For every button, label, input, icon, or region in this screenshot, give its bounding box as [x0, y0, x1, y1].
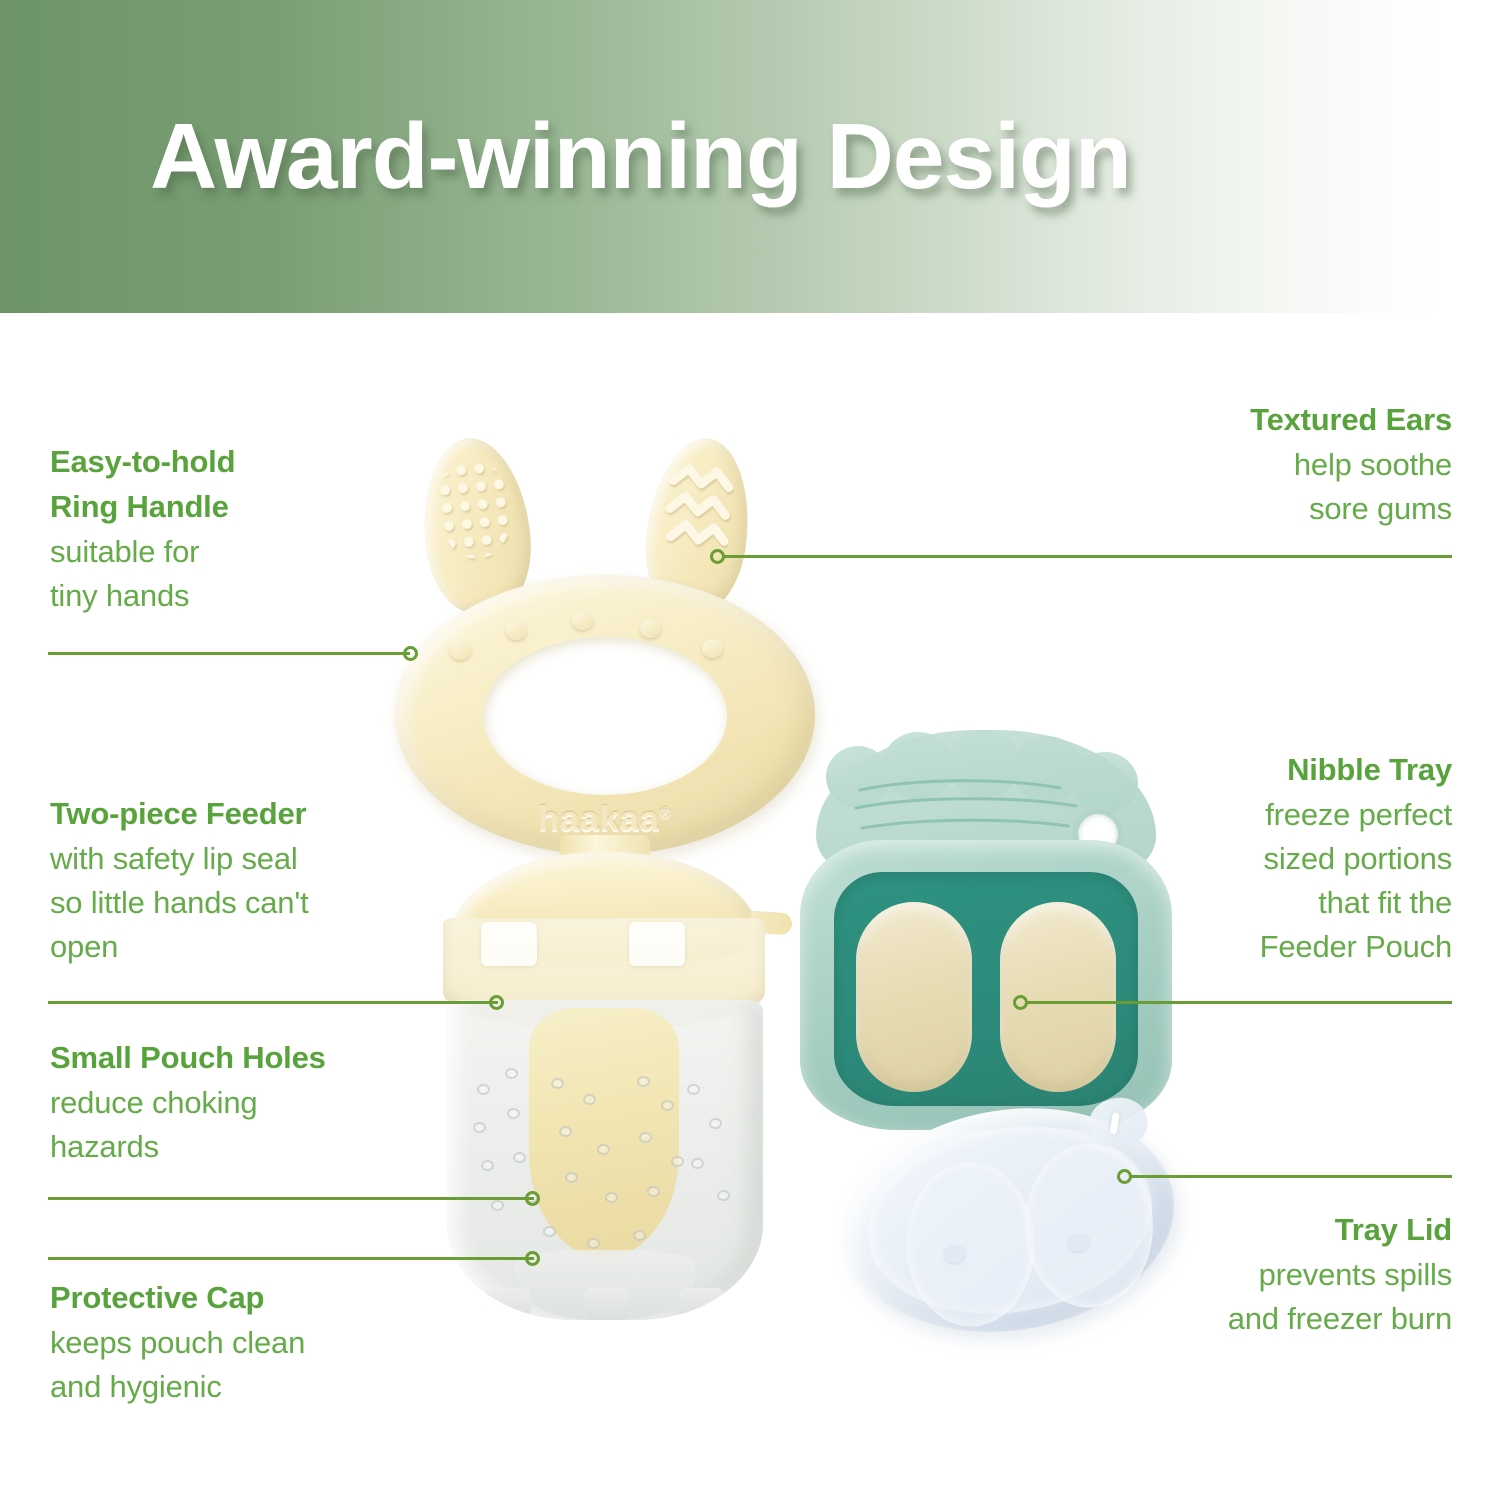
callout-two-piece-feeder: Two-piece Feeder with safety lip seal so…: [50, 792, 430, 969]
connector-dot-nibble-tray: [1013, 995, 1028, 1010]
callout-description: help soothe sore gums: [1092, 443, 1452, 531]
callout-textured-ears: Textured Ears help soothe sore gums: [1092, 398, 1452, 531]
connector-line-two-piece-feeder: [48, 1001, 498, 1004]
callout-description: with safety lip seal so little hands can…: [50, 837, 430, 969]
callout-title: Nibble Tray: [1072, 748, 1452, 793]
callout-title: Easy-to-hold Ring Handle: [50, 440, 410, 530]
infographic-canvas: Award-winning Design: [0, 0, 1500, 1500]
page-title: Award-winning Design: [150, 103, 1131, 210]
callout-description: freeze perfect sized portions that fit t…: [1072, 793, 1452, 969]
connector-line-small-pouch-holes: [48, 1197, 534, 1200]
connector-dot-textured-ears: [710, 549, 725, 564]
pouch-foot: [679, 1288, 725, 1320]
tray-brand-emboss: [846, 774, 1106, 840]
callout-tray-lid: Tray Lid prevents spills and freezer bur…: [1072, 1208, 1452, 1341]
ring-handle: haakaa®: [395, 575, 815, 855]
connector-line-textured-ears: [722, 555, 1452, 558]
ring-bump-texture-icon: [450, 611, 760, 655]
ear-zigzag-texture-icon: [659, 460, 737, 554]
connector-line-nibble-tray: [1026, 1001, 1452, 1004]
ear-dot-texture-icon: [433, 457, 515, 562]
callout-title: Two-piece Feeder: [50, 792, 430, 837]
tray-portion-well: [856, 902, 972, 1092]
safety-latch-right: [629, 922, 685, 966]
callout-description: suitable for tiny hands: [50, 530, 410, 618]
header-banner: Award-winning Design: [0, 0, 1500, 313]
callout-nibble-tray: Nibble Tray freeze perfect sized portion…: [1072, 748, 1452, 969]
tray-lid-well-imprint: [905, 1161, 1036, 1327]
callout-title: Tray Lid: [1072, 1208, 1452, 1253]
pouch-foot: [583, 1288, 629, 1320]
connector-dot-protective-cap: [525, 1251, 540, 1266]
connector-dot-small-pouch-holes: [525, 1191, 540, 1206]
callout-title: Small Pouch Holes: [50, 1036, 430, 1081]
callout-small-pouch-holes: Small Pouch Holes reduce choking hazards: [50, 1036, 430, 1169]
callout-title: Textured Ears: [1092, 398, 1452, 443]
connector-dot-ring-handle: [403, 646, 418, 661]
callout-ring-handle: Easy-to-hold Ring Handle suitable for ti…: [50, 440, 410, 618]
safety-latch-left: [481, 922, 537, 966]
brand-emboss: haakaa®: [395, 800, 815, 839]
connector-line-tray-lid: [1130, 1175, 1452, 1178]
pouch-foot: [485, 1288, 531, 1320]
connector-dot-tray-lid: [1117, 1169, 1132, 1184]
callout-description: keeps pouch clean and hygienic: [50, 1321, 430, 1409]
connector-dot-two-piece-feeder: [489, 995, 504, 1010]
connector-line-ring-handle: [48, 652, 410, 655]
callout-title: Protective Cap: [50, 1276, 430, 1321]
callout-protective-cap: Protective Cap keeps pouch clean and hyg…: [50, 1276, 430, 1409]
feeder-pouch: [447, 1000, 763, 1320]
ring-hole: [483, 637, 727, 795]
callout-description: reduce choking hazards: [50, 1081, 430, 1169]
connector-line-protective-cap: [48, 1257, 534, 1260]
callout-description: prevents spills and freezer burn: [1072, 1253, 1452, 1341]
